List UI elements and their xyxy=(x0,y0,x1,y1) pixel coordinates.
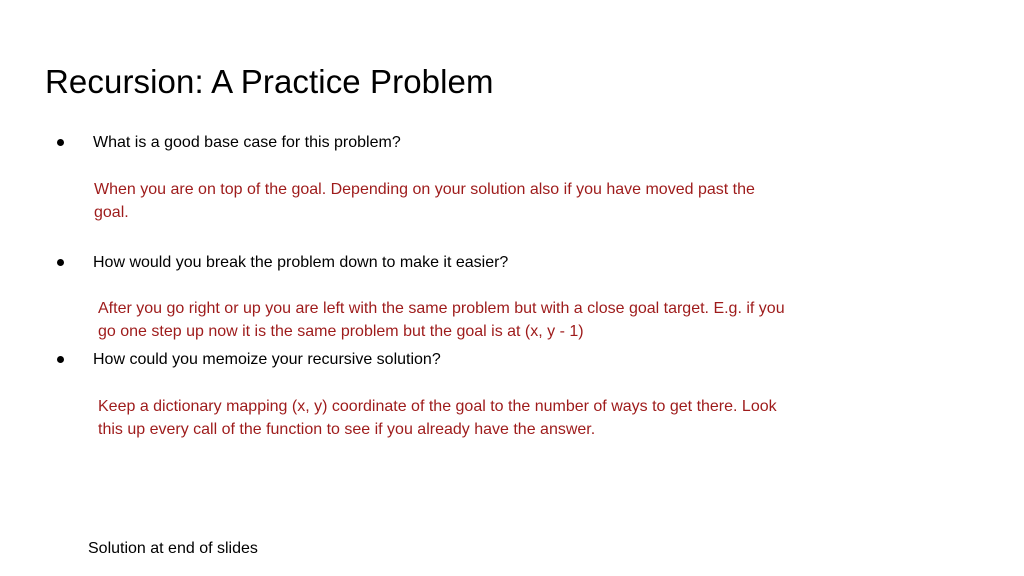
spacer-1 xyxy=(0,224,1024,252)
slide-canvas: Recursion: A Practice Problem What is a … xyxy=(0,0,1024,576)
bullet-answer-2: After you go right or up you are left wi… xyxy=(98,297,790,343)
bullet-item-1: What is a good base case for this proble… xyxy=(0,132,1024,154)
page-title: Recursion: A Practice Problem xyxy=(45,62,494,102)
bullet-dot-icon xyxy=(57,139,64,146)
bullet-dot-icon xyxy=(57,259,64,266)
bullet-answer-1: When you are on top of the goal. Dependi… xyxy=(94,178,786,224)
bullet-item-2: How would you break the problem down to … xyxy=(0,252,1024,274)
bullet-item-3: How could you memoize your recursive sol… xyxy=(0,349,1024,371)
bullet-question-1: What is a good base case for this proble… xyxy=(93,132,793,154)
bullet-answer-3: Keep a dictionary mapping (x, y) coordin… xyxy=(98,395,790,441)
bullet-dot-icon xyxy=(57,356,64,363)
bullet-question-2: How would you break the problem down to … xyxy=(93,252,793,274)
slide-body: What is a good base case for this proble… xyxy=(0,132,1024,441)
bullet-question-3: How could you memoize your recursive sol… xyxy=(93,349,793,371)
footnote-text: Solution at end of slides xyxy=(88,538,258,560)
